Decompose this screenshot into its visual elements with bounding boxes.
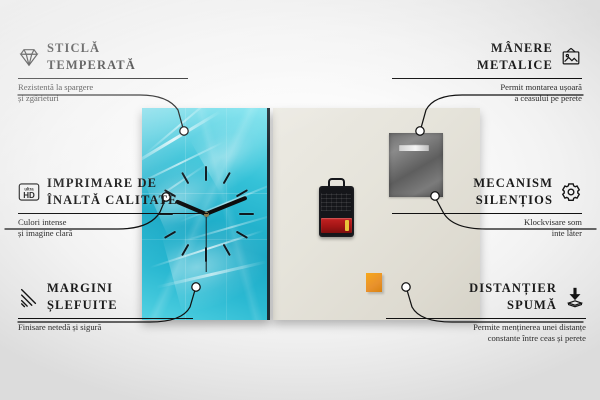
callout-title-line2: ÎNALTĂ CALITATE (47, 192, 178, 209)
callout-title-line1: DISTANȚIER (469, 280, 557, 297)
callout-polished-edges: MARGINI ȘLEFUITE Finisare netedă și sigu… (18, 280, 193, 333)
callout-rule (18, 318, 193, 319)
callout-sub-line1: Culori intense (18, 217, 208, 229)
ultra-hd-badge-icon: ultra HD (18, 181, 40, 203)
callout-foam-spacer: DISTANȚIER SPUMĂ Permite menținerea unei… (386, 280, 586, 345)
callout-sub-line2: și zgârieturi (18, 93, 188, 105)
gear-icon (560, 181, 582, 203)
callout-rule (18, 213, 208, 214)
callout-rule (386, 318, 586, 319)
callout-silent-mechanism: MECANISM SILENȚIOS Klockvisare som inte … (392, 175, 582, 240)
svg-text:HD: HD (23, 191, 35, 200)
callout-title-line1: IMPRIMARE DE (47, 175, 178, 192)
callout-rule (392, 213, 582, 214)
callout-metal-handles: MÂNERE METALICE Permit montarea ușoară a… (392, 40, 582, 105)
callout-title-line2: ȘLEFUITE (47, 297, 118, 314)
callout-sub-line1: Rezistentă la spargere (18, 82, 188, 94)
diagonal-lines-icon (18, 286, 40, 308)
hanger-slot (399, 144, 429, 151)
callout-title-line1: STICLĂ (47, 40, 136, 57)
callout-title-line2: SPUMĂ (469, 297, 557, 314)
quartz-mechanism (319, 186, 354, 237)
arrow-down-onto-pad-icon (564, 286, 586, 308)
callout-sub-line2: a ceasului pe perete (392, 93, 582, 105)
mechanism-texture (321, 193, 351, 211)
callout-title-line1: MECANISM (473, 175, 553, 192)
mechanism-hanging-loop (328, 178, 345, 187)
infographic-canvas: STICLĂ TEMPERATĂ Rezistentă la spargere … (0, 0, 600, 400)
callout-tempered-glass: STICLĂ TEMPERATĂ Rezistentă la spargere … (18, 40, 188, 105)
callout-title-line1: MÂNERE (477, 40, 553, 57)
battery (321, 218, 352, 233)
callout-rule (392, 78, 582, 79)
callout-sub-line1: Finisare netedă și sigură (18, 322, 193, 334)
callout-sub-line1: Klockvisare som (392, 217, 582, 229)
callout-high-quality-print: ultra HD IMPRIMARE DE ÎNALTĂ CALITATE Cu… (18, 175, 208, 240)
diamond-icon (18, 46, 40, 68)
callout-title-line2: METALICE (477, 57, 553, 74)
callout-sub-line2: și imagine clară (18, 228, 208, 240)
callout-title-line1: MARGINI (47, 280, 118, 297)
callout-title-line2: TEMPERATĂ (47, 57, 136, 74)
callout-rule (18, 78, 188, 79)
foam-spacer-part (366, 273, 382, 292)
callout-sub-line1: Permit montarea ușoară (392, 82, 582, 94)
callout-sub-line1: Permite menținerea unei distanțe (386, 322, 586, 334)
picture-frame-hanging-icon (560, 46, 582, 68)
callout-sub-line2: constante între ceas și perete (386, 333, 586, 345)
callout-sub-line2: inte låter (392, 228, 582, 240)
callout-title-line2: SILENȚIOS (473, 192, 553, 209)
